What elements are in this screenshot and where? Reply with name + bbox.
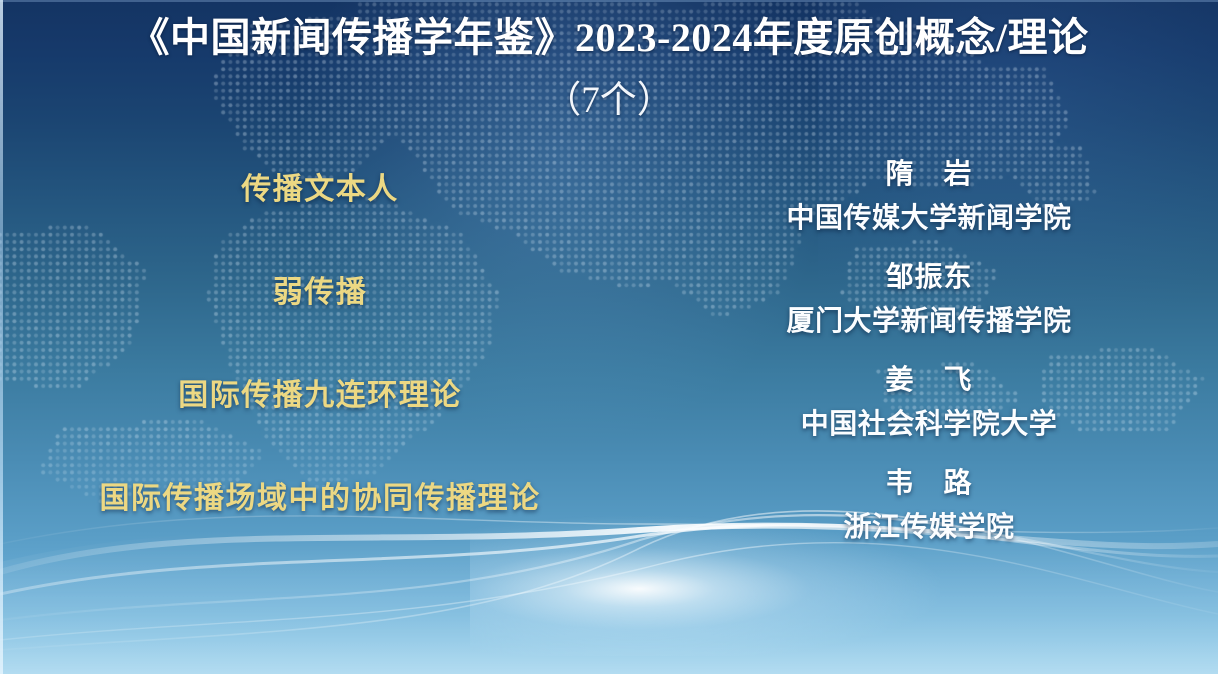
concept-label: 传播文本人 — [241, 164, 399, 208]
list-item: 国际传播场域中的协同传播理论 韦 路 浙江传媒学院 — [0, 461, 1218, 545]
author-affiliation: 中国社会科学院大学 — [640, 402, 1218, 442]
list-item: 国际传播九连环理论 姜 飞 中国社会科学院大学 — [0, 358, 1218, 442]
author-name: 姜 飞 — [640, 358, 1218, 398]
concept-author-list: 传播文本人 隋 岩 中国传媒大学新闻学院 弱传播 邹振东 厦门大学新闻传播学院 — [0, 152, 1218, 552]
presentation-slide: 《中国新闻传播学年鉴》2023-2024年度原创概念/理论 （7个） 传播文本人… — [0, 0, 1218, 674]
concept-label: 国际传播九连环理论 — [178, 370, 462, 414]
author-cell: 邹振东 厦门大学新闻传播学院 — [640, 255, 1218, 339]
author-name: 隋 岩 — [640, 152, 1218, 192]
concept-cell: 传播文本人 — [0, 152, 640, 208]
page-title: 《中国新闻传播学年鉴》2023-2024年度原创概念/理论 — [0, 14, 1218, 63]
list-item: 传播文本人 隋 岩 中国传媒大学新闻学院 — [0, 152, 1218, 236]
author-name: 韦 路 — [640, 461, 1218, 501]
author-cell: 韦 路 浙江传媒学院 — [640, 461, 1218, 545]
author-affiliation: 厦门大学新闻传播学院 — [640, 299, 1218, 339]
list-item: 弱传播 邹振东 厦门大学新闻传播学院 — [0, 255, 1218, 339]
author-affiliation: 中国传媒大学新闻学院 — [640, 196, 1218, 236]
concept-cell: 国际传播九连环理论 — [0, 358, 640, 414]
author-cell: 隋 岩 中国传媒大学新闻学院 — [640, 152, 1218, 236]
concept-cell: 弱传播 — [0, 255, 640, 311]
concept-label: 弱传播 — [273, 267, 368, 311]
slide-title-block: 《中国新闻传播学年鉴》2023-2024年度原创概念/理论 （7个） — [0, 14, 1218, 123]
author-name: 邹振东 — [640, 255, 1218, 295]
author-affiliation: 浙江传媒学院 — [640, 505, 1218, 545]
page-subtitle-count: （7个） — [0, 79, 1218, 123]
concept-label: 国际传播场域中的协同传播理论 — [100, 473, 541, 517]
concept-cell: 国际传播场域中的协同传播理论 — [0, 461, 640, 517]
author-cell: 姜 飞 中国社会科学院大学 — [640, 358, 1218, 442]
